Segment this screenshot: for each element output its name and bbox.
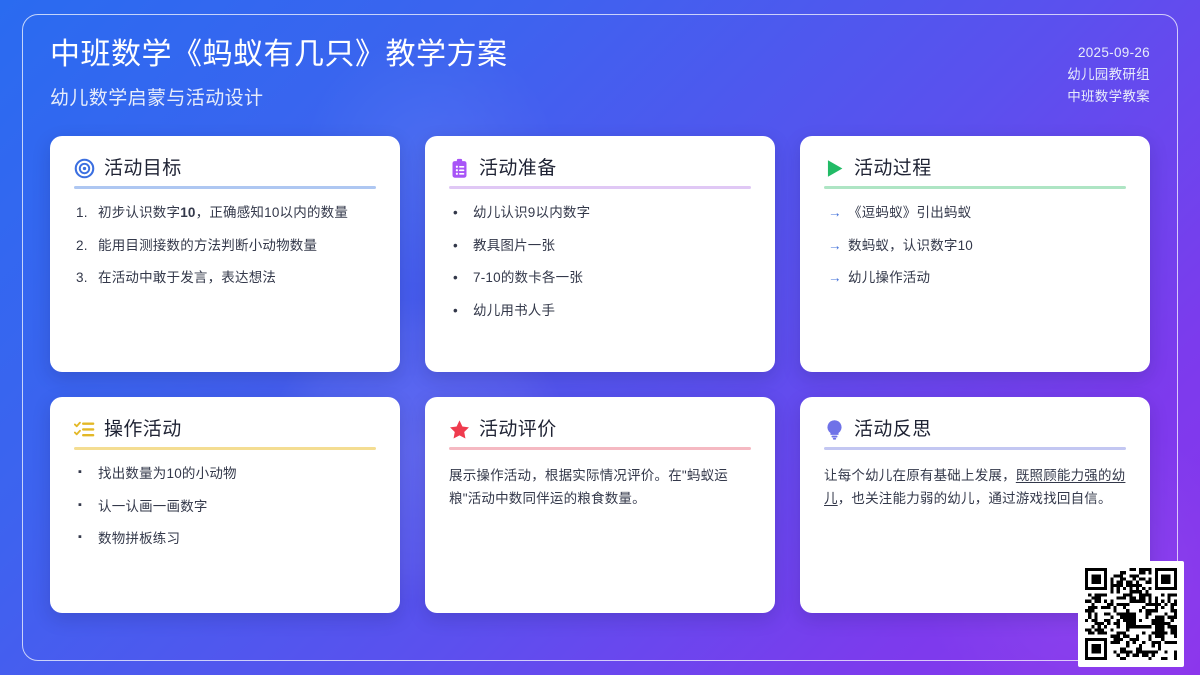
card-title: 操作活动	[104, 420, 182, 439]
list-marker: ▪	[78, 498, 82, 514]
list-item-text: 《逗蚂蚁》引出蚂蚁	[848, 205, 971, 220]
qr-code-image	[1085, 568, 1177, 660]
slide: 中班数学《蚂蚁有几只》教学方案 幼儿数学启蒙与活动设计 2025-09-26 幼…	[0, 0, 1200, 675]
play-triangle-icon	[824, 158, 845, 179]
meta-category: 中班数学教案	[1067, 86, 1150, 108]
list-marker: →	[828, 203, 842, 223]
list-marker: •	[453, 268, 458, 288]
page-title: 中班数学《蚂蚁有几只》教学方案	[50, 36, 508, 74]
list-item-text: 初步认识数字	[98, 205, 180, 220]
list-item: •幼儿用书人手	[449, 301, 751, 321]
list-item: ▪找出数量为10的小动物	[74, 464, 376, 484]
paragraph-text: 展示操作活动，根据实际情况评价。在"蚂蚁运粮"活动中数同伴运的粮食数量。	[449, 468, 728, 506]
list-marker: •	[453, 236, 458, 256]
card-objectives[interactable]: 活动目标初步认识数字10，正确感知10以内的数量能用目测接数的方法判断小动物数量…	[50, 136, 400, 372]
qr-code[interactable]	[1078, 561, 1184, 667]
card-header: 活动反思	[824, 419, 1126, 440]
clipboard-icon	[449, 158, 470, 179]
list-item: ▪认一认画一画数字	[74, 497, 376, 517]
meta-org: 幼儿园教研组	[1067, 64, 1150, 86]
list-item: →《逗蚂蚁》引出蚂蚁	[824, 203, 1126, 223]
list-item-text: 数蚂蚁，认识数字10	[848, 238, 973, 253]
title-block: 中班数学《蚂蚁有几只》教学方案 幼儿数学启蒙与活动设计	[50, 36, 508, 110]
paragraph-text-tail: ，也关注能力弱的幼儿，通过游戏找回自信。	[838, 491, 1112, 506]
card-process[interactable]: 活动过程→《逗蚂蚁》引出蚂蚁→数蚂蚁，认识数字10→幼儿操作活动	[800, 136, 1150, 372]
card-title: 活动目标	[104, 159, 182, 178]
list-item: ▪数物拼板练习	[74, 529, 376, 549]
clipboard-icon	[449, 158, 470, 179]
target-icon	[74, 158, 95, 179]
card-paragraph: 让每个幼儿在原有基础上发展，既照顾能力强的幼儿，也关注能力弱的幼儿，通过游戏找回…	[824, 464, 1126, 510]
meta-date: 2025-09-26	[1067, 42, 1150, 64]
checklist-icon	[74, 419, 95, 440]
card-header: 活动目标	[74, 158, 376, 179]
list-item-text: 在活动中敢于发言，表达想法	[98, 270, 276, 285]
card-operation[interactable]: 操作活动▪找出数量为10的小动物▪认一认画一画数字▪数物拼板练习	[50, 397, 400, 613]
card-header: 活动准备	[449, 158, 751, 179]
header-meta: 2025-09-26 幼儿园教研组 中班数学教案	[1067, 36, 1150, 108]
card-list: →《逗蚂蚁》引出蚂蚁→数蚂蚁，认识数字10→幼儿操作活动	[824, 203, 1126, 288]
card-accent-bar	[824, 186, 1126, 189]
paragraph-text: 让每个幼儿在原有基础上发展，	[824, 468, 1016, 483]
page-subtitle: 幼儿数学启蒙与活动设计	[50, 83, 508, 110]
star-icon	[449, 419, 470, 440]
list-marker: •	[453, 301, 458, 321]
card-list: 初步认识数字10，正确感知10以内的数量能用目测接数的方法判断小动物数量在活动中…	[74, 203, 376, 288]
card-grid: 活动目标初步认识数字10，正确感知10以内的数量能用目测接数的方法判断小动物数量…	[50, 136, 1150, 613]
card-title: 活动反思	[854, 420, 932, 439]
list-item-text: 能用目测接数的方法判断小动物数量	[98, 238, 317, 253]
card-title: 活动过程	[854, 159, 932, 178]
list-item: 在活动中敢于发言，表达想法	[74, 268, 376, 288]
list-item-text: 幼儿操作活动	[848, 270, 930, 285]
lightbulb-icon	[824, 419, 845, 440]
list-item: 能用目测接数的方法判断小动物数量	[74, 236, 376, 256]
list-item-text: 认一认画一画数字	[98, 499, 208, 514]
checklist-icon	[74, 419, 95, 440]
list-marker: →	[828, 236, 842, 256]
card-header: 活动过程	[824, 158, 1126, 179]
list-item-text: 找出数量为10的小动物	[98, 466, 237, 481]
list-item: •7-10的数卡各一张	[449, 268, 751, 288]
list-marker: →	[828, 268, 842, 288]
target-icon	[74, 158, 95, 179]
card-accent-bar	[449, 447, 751, 450]
list-marker: ▪	[78, 530, 82, 546]
card-title: 活动评价	[479, 420, 557, 439]
list-item: →数蚂蚁，认识数字10	[824, 236, 1126, 256]
card-title: 活动准备	[479, 159, 557, 178]
list-marker: •	[453, 203, 458, 223]
list-item-text: 教具图片一张	[473, 238, 555, 253]
star-icon	[449, 419, 470, 440]
list-item: →幼儿操作活动	[824, 268, 1126, 288]
card-header: 活动评价	[449, 419, 751, 440]
slide-header: 中班数学《蚂蚁有几只》教学方案 幼儿数学启蒙与活动设计 2025-09-26 幼…	[50, 0, 1150, 120]
list-item: •幼儿认识9以内数字	[449, 203, 751, 223]
card-list: ▪找出数量为10的小动物▪认一认画一画数字▪数物拼板练习	[74, 464, 376, 549]
card-evaluation[interactable]: 活动评价展示操作活动，根据实际情况评价。在"蚂蚁运粮"活动中数同伴运的粮食数量。	[425, 397, 775, 613]
card-accent-bar	[74, 447, 376, 450]
play-triangle-icon	[824, 158, 845, 179]
card-accent-bar	[449, 186, 751, 189]
list-item-text: 7-10的数卡各一张	[473, 270, 583, 285]
card-paragraph: 展示操作活动，根据实际情况评价。在"蚂蚁运粮"活动中数同伴运的粮食数量。	[449, 464, 751, 510]
list-item-text: 幼儿用书人手	[473, 303, 555, 318]
list-item: 初步认识数字10，正确感知10以内的数量	[74, 203, 376, 223]
card-list: •幼儿认识9以内数字•教具图片一张•7-10的数卡各一张•幼儿用书人手	[449, 203, 751, 320]
card-accent-bar	[824, 447, 1126, 450]
list-item-text: 数物拼板练习	[98, 531, 180, 546]
list-item: •教具图片一张	[449, 236, 751, 256]
card-header: 操作活动	[74, 419, 376, 440]
list-item-text: 幼儿认识9以内数字	[473, 205, 590, 220]
list-item-strong: 10	[180, 205, 195, 220]
card-accent-bar	[74, 186, 376, 189]
list-item-text-tail: ，正确感知10以内的数量	[196, 205, 348, 220]
lightbulb-icon	[824, 419, 845, 440]
card-preparation[interactable]: 活动准备•幼儿认识9以内数字•教具图片一张•7-10的数卡各一张•幼儿用书人手	[425, 136, 775, 372]
list-marker: ▪	[78, 465, 82, 481]
